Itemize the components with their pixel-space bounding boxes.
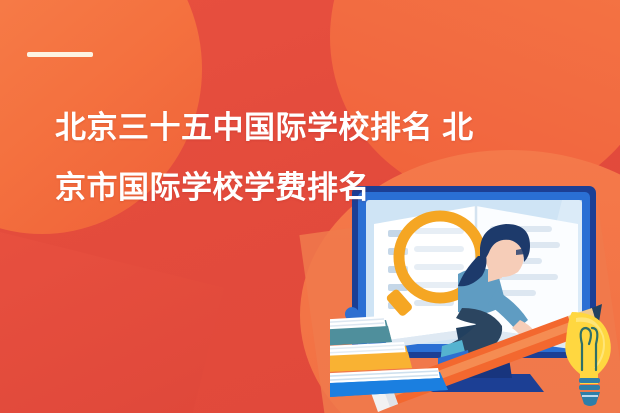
page-title-line-2: 京市国际学校学费排名 bbox=[55, 158, 565, 218]
light-bulb-icon bbox=[565, 312, 611, 406]
page-title-line-1: 北京三十五中国际学校排名 北 bbox=[55, 98, 565, 158]
decorative-dash bbox=[27, 52, 93, 57]
page-title: 北京三十五中国际学校排名 北 京市国际学校学费排名 bbox=[55, 98, 565, 217]
banner-image: 北京三十五中国际学校排名 北 京市国际学校学费排名 bbox=[0, 0, 620, 413]
